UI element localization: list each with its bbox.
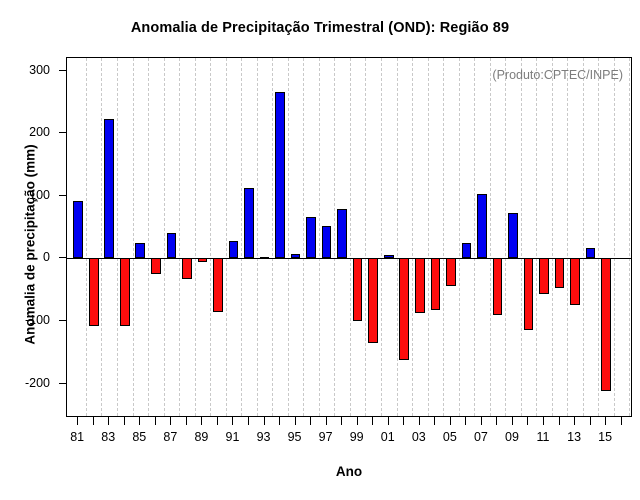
x-tick-mark [621,417,622,425]
x-tick-mark [264,417,265,425]
x-tick-mark [139,417,140,425]
bar [135,243,145,259]
bar [229,241,239,258]
x-tick-label: 05 [443,430,457,444]
bar [198,258,208,262]
x-tick-label: 95 [288,430,302,444]
bar [462,243,472,258]
gridline [629,58,630,416]
x-tick-label: 83 [101,430,115,444]
x-tick-mark [124,417,125,425]
bar [446,258,456,286]
x-tick-label: 87 [163,430,177,444]
x-tick-label: 15 [598,430,612,444]
bar [539,258,549,294]
bar [555,258,565,288]
bar [151,258,161,274]
x-tick-mark [543,417,544,425]
x-tick-label: 99 [350,430,364,444]
bar [570,258,580,305]
x-tick-mark [403,417,404,425]
gridline [412,58,413,416]
x-tick-mark [559,417,560,425]
bar [586,248,596,258]
x-tick-mark [279,417,280,425]
x-tick-label: 91 [226,430,240,444]
x-tick-label: 07 [474,430,488,444]
x-tick-mark [481,417,482,425]
bar [322,226,332,258]
gridline [443,58,444,416]
bar [368,258,378,343]
x-tick-mark [465,417,466,425]
x-tick-mark [77,417,78,425]
gridline [397,58,398,416]
gridline [179,58,180,416]
bar [120,258,130,326]
x-tick-mark [496,417,497,425]
gridline [148,58,149,416]
y-tick-mark [59,383,66,384]
gridline [567,58,568,416]
x-tick-mark [341,417,342,425]
gridline [490,58,491,416]
x-tick-label: 11 [537,430,550,444]
gridline [226,58,227,416]
bar [291,254,301,258]
y-tick-mark [59,70,66,71]
gridline [583,58,584,416]
bar [399,258,409,360]
bar [244,188,254,259]
x-tick-label: 81 [70,430,84,444]
gridline [86,58,87,416]
gridline [350,58,351,416]
x-tick-mark [310,417,311,425]
gridline [195,58,196,416]
bar [89,258,99,326]
x-tick-mark [232,417,233,425]
gridline [241,58,242,416]
bar [182,258,192,279]
gridline [505,58,506,416]
bar [508,213,518,259]
x-tick-label: 01 [381,430,395,444]
x-tick-mark [295,417,296,425]
gridline [133,58,134,416]
gridline [536,58,537,416]
y-axis-label: Anomalia de precipitação (mm) [23,65,38,425]
x-tick-label: 09 [505,430,519,444]
x-tick-label: 85 [132,430,146,444]
x-tick-mark [512,417,513,425]
gridline [459,58,460,416]
bar [601,258,611,391]
x-tick-mark [388,417,389,425]
bar [493,258,503,314]
bar [73,201,83,259]
source-annotation: (Produto:CPTEC/INPE) [492,68,623,82]
x-tick-label: 89 [194,430,208,444]
bar [337,209,347,258]
x-tick-mark [527,417,528,425]
gridline [381,58,382,416]
x-tick-mark [170,417,171,425]
chart-figure: Anomalia de Precipitação Trimestral (OND… [0,0,640,500]
bar [384,255,394,259]
x-tick-mark [434,417,435,425]
bar [167,233,177,259]
x-tick-mark [574,417,575,425]
gridline [598,58,599,416]
chart-title: Anomalia de Precipitação Trimestral (OND… [0,20,640,36]
y-tick-mark [59,320,66,321]
gridline [319,58,320,416]
gridline [334,58,335,416]
x-tick-label: 13 [567,430,581,444]
x-tick-mark [450,417,451,425]
x-tick-mark [248,417,249,425]
bar [260,257,270,259]
gridline [428,58,429,416]
y-tick-mark [59,195,66,196]
bar [306,217,316,258]
gridline [614,58,615,416]
x-tick-mark [93,417,94,425]
x-tick-mark [372,417,373,425]
gridline [365,58,366,416]
gridline [257,58,258,416]
gridline [272,58,273,416]
y-tick-mark [59,257,66,258]
bar [524,258,534,330]
x-tick-mark [605,417,606,425]
x-tick-mark [326,417,327,425]
x-tick-mark [186,417,187,425]
bar [213,258,223,311]
gridline [164,58,165,416]
x-tick-label: 97 [319,430,333,444]
x-tick-mark [201,417,202,425]
y-tick-label: 0 [43,250,50,264]
gridline [117,58,118,416]
gridline [303,58,304,416]
gridline [521,58,522,416]
x-tick-mark [419,417,420,425]
gridline [552,58,553,416]
bar [477,194,487,258]
x-tick-mark [155,417,156,425]
bar [431,258,441,309]
x-tick-mark [108,417,109,425]
bar [353,258,363,321]
x-tick-mark [357,417,358,425]
x-axis-label: Ano [66,464,632,479]
bar [275,92,285,258]
gridline [210,58,211,416]
gridline [101,58,102,416]
gridline [288,58,289,416]
bar [415,258,425,313]
gridline [474,58,475,416]
x-tick-label: 93 [257,430,271,444]
x-tick-mark [590,417,591,425]
plot-area: (Produto:CPTEC/INPE) [66,57,632,417]
bar [104,119,114,258]
x-tick-label: 03 [412,430,426,444]
x-tick-mark [217,417,218,425]
y-tick-mark [59,132,66,133]
